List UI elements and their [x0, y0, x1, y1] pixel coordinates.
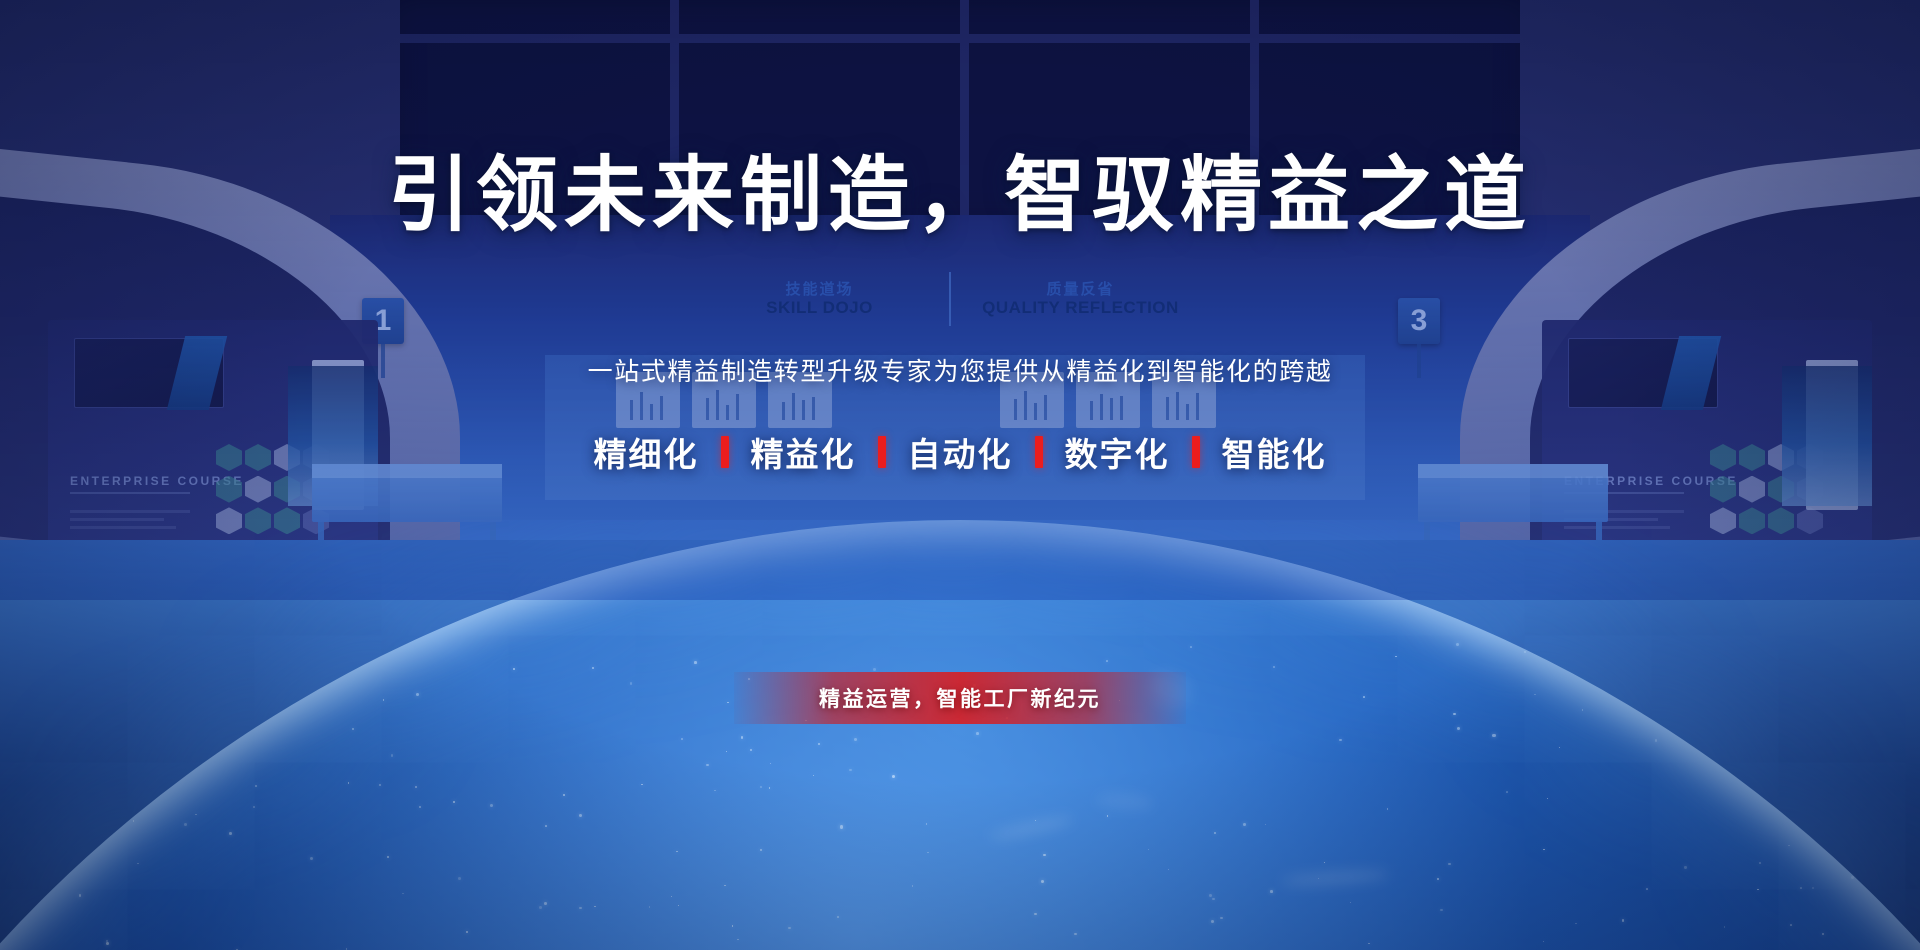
keyword-item: 智能化: [1222, 428, 1327, 476]
tagline-badge-label: 精益运营，智能工厂新纪元: [819, 683, 1101, 713]
keyword-separator-icon: [1035, 436, 1043, 468]
hero-content: 引领未来制造，智驭精益之道 一站式精益制造转型升级专家为您提供从精益化到智能化的…: [0, 0, 1920, 950]
keyword-item: 精细化: [594, 428, 699, 476]
keyword-item: 精益化: [751, 428, 856, 476]
keyword-item: 数字化: [1065, 428, 1170, 476]
hero-subtitle: 一站式精益制造转型升级专家为您提供从精益化到智能化的跨越: [0, 352, 1920, 388]
keyword-separator-icon: [721, 436, 729, 468]
hero-headline: 引领未来制造，智驭精益之道: [0, 128, 1920, 247]
keyword-list: 精细化 精益化 自动化 数字化 智能化: [0, 428, 1920, 476]
hero-banner: 技能道场 SKILL DOJO 质量反省 QUALITY REFLECTION …: [0, 0, 1920, 950]
keyword-separator-icon: [878, 436, 886, 468]
tagline-badge: 精益运营，智能工厂新纪元: [734, 672, 1186, 724]
keyword-separator-icon: [1192, 436, 1200, 468]
keyword-item: 自动化: [908, 428, 1013, 476]
